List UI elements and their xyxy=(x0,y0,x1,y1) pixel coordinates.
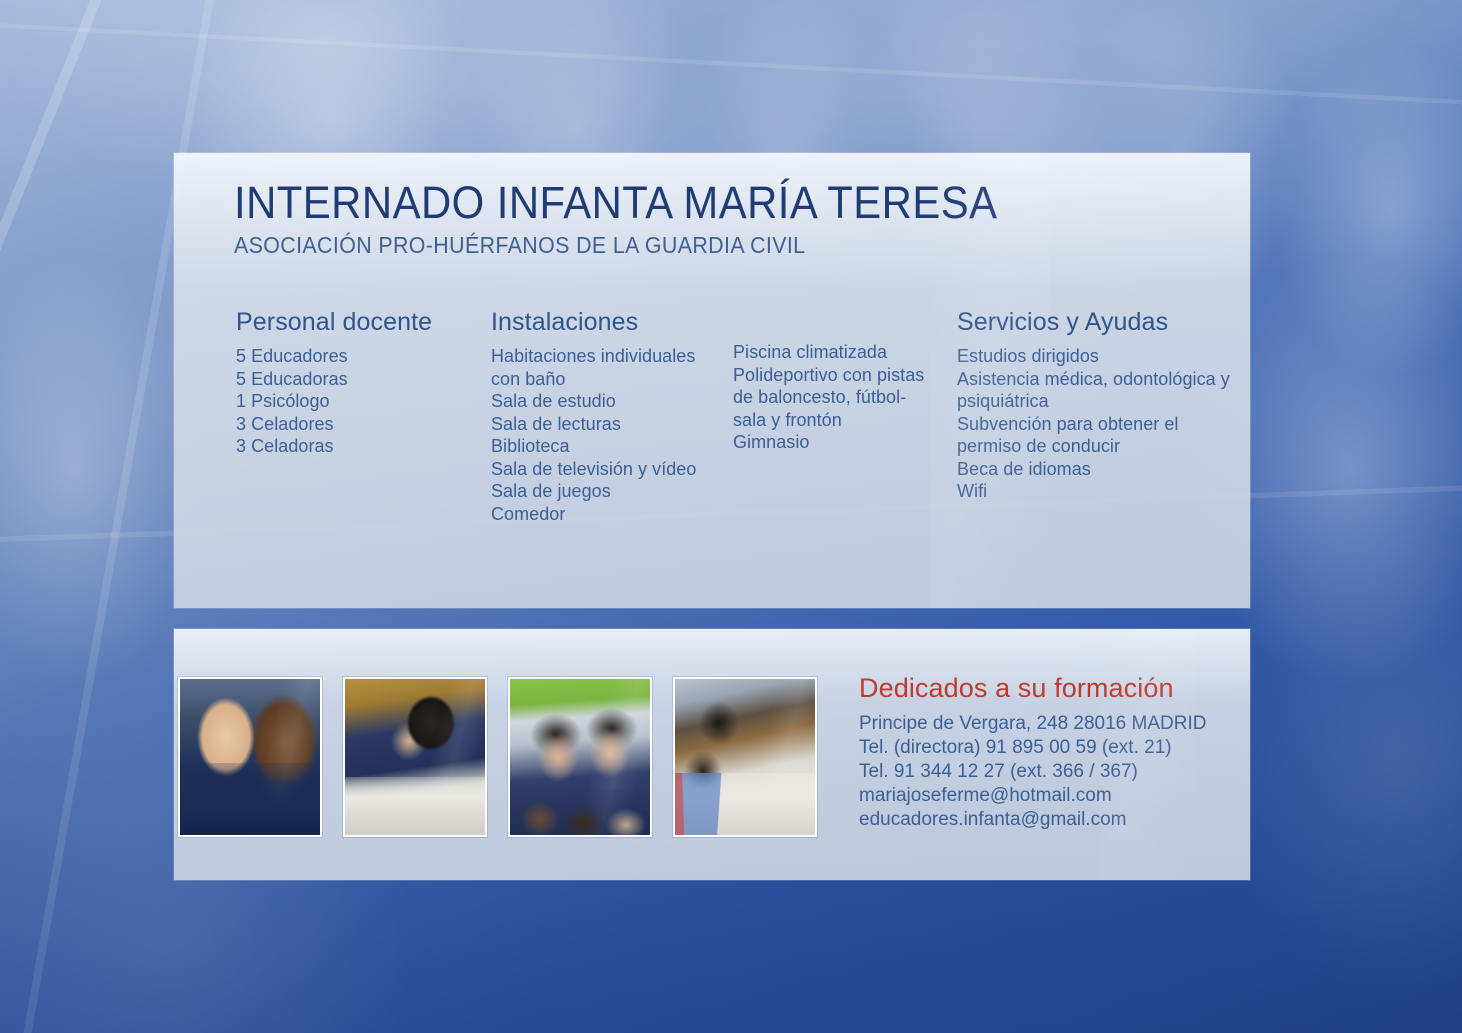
list-item: Estudios dirigidos xyxy=(957,345,1227,368)
contact-email-secondary[interactable]: educadores.infanta@gmail.com xyxy=(859,808,1229,832)
list-item: 1 Psicólogo xyxy=(236,390,486,413)
column-heading-personal-docente: Personal docente xyxy=(236,308,486,337)
list-item: Wifi xyxy=(957,480,1227,503)
page-title: INTERNADO INFANTA MARÍA TERESA xyxy=(234,179,998,226)
photo-classroom-work xyxy=(673,677,817,837)
list-item: Gimnasio xyxy=(733,431,948,454)
column-heading-spacer xyxy=(733,308,948,341)
list-item: Comedor xyxy=(491,503,731,526)
column-personal-docente: Personal docente 5 Educadores 5 Educador… xyxy=(236,308,486,458)
page-subtitle: ASOCIACIÓN PRO-HUÉRFANOS DE LA GUARDIA C… xyxy=(234,232,998,259)
column-instalaciones: Instalaciones Habitaciones individuales … xyxy=(491,308,731,525)
photo-sheen xyxy=(510,679,650,835)
list-item: psiquiátrica xyxy=(957,390,1227,413)
list-item: 5 Educadores xyxy=(236,345,486,368)
poster-canvas: INTERNADO INFANTA MARÍA TERESA ASOCIACIÓ… xyxy=(0,0,1462,1033)
list-item: Sala de juegos xyxy=(491,480,731,503)
list-item: 3 Celadoras xyxy=(236,435,486,458)
photo-students-sports xyxy=(508,677,652,837)
list-item: con baño xyxy=(491,368,731,391)
photo-strip xyxy=(178,677,817,837)
list-item: Sala de estudio xyxy=(491,390,731,413)
photo-sheen xyxy=(675,679,815,835)
list-personal-docente: 5 Educadores 5 Educadoras 1 Psicólogo 3 … xyxy=(236,345,486,458)
list-item: permiso de conducir xyxy=(957,435,1227,458)
column-servicios-y-ayudas: Servicios y Ayudas Estudios dirigidos As… xyxy=(957,308,1227,503)
list-item: Asistencia médica, odontológica y xyxy=(957,368,1227,391)
photo-sheen xyxy=(345,679,485,835)
info-panel: INTERNADO INFANTA MARÍA TERESA ASOCIACIÓ… xyxy=(174,153,1250,608)
list-item: Sala de televisión y vídeo xyxy=(491,458,731,481)
column-heading-servicios-y-ayudas: Servicios y Ayudas xyxy=(957,308,1227,337)
contact-headline: Dedicados a su formación xyxy=(859,673,1229,704)
list-item: Subvención para obtener el xyxy=(957,413,1227,436)
poster-header: INTERNADO INFANTA MARÍA TERESA ASOCIACIÓ… xyxy=(234,179,1055,259)
list-item: 3 Celadores xyxy=(236,413,486,436)
list-item: Sala de lecturas xyxy=(491,413,731,436)
contact-address: Principe de Vergara, 248 28016 MADRID xyxy=(859,712,1229,736)
list-item: Biblioteca xyxy=(491,435,731,458)
column-instalaciones-deportivas: Piscina climatizada Polideportivo con pi… xyxy=(733,308,948,454)
list-item: de baloncesto, fútbol- xyxy=(733,386,948,409)
photo-student-studying xyxy=(343,677,487,837)
list-instalaciones: Habitaciones individuales con baño Sala … xyxy=(491,345,731,525)
contact-details: Principe de Vergara, 248 28016 MADRID Te… xyxy=(859,712,1229,832)
photo-sheen xyxy=(180,679,320,835)
list-item: Habitaciones individuales xyxy=(491,345,731,368)
list-servicios-y-ayudas: Estudios dirigidos Asistencia médica, od… xyxy=(957,345,1227,503)
list-item: 5 Educadoras xyxy=(236,368,486,391)
contact-panel: Dedicados a su formación Principe de Ver… xyxy=(174,629,1250,880)
contact-phone-main: Tel. 91 344 12 27 (ext. 366 / 367) xyxy=(859,760,1229,784)
list-item: Piscina climatizada xyxy=(733,341,948,364)
photo-students-smiling xyxy=(178,677,322,837)
column-heading-instalaciones: Instalaciones xyxy=(491,308,731,337)
list-item: sala y frontón xyxy=(733,409,948,432)
contact-block: Dedicados a su formación Principe de Ver… xyxy=(859,673,1229,832)
list-instalaciones-deportivas: Piscina climatizada Polideportivo con pi… xyxy=(733,341,948,454)
list-item: Polideportivo con pistas xyxy=(733,364,948,387)
contact-phone-director: Tel. (directora) 91 895 00 59 (ext. 21) xyxy=(859,736,1229,760)
list-item: Beca de idiomas xyxy=(957,458,1227,481)
contact-email-primary[interactable]: mariajoseferme@hotmail.com xyxy=(859,784,1229,808)
